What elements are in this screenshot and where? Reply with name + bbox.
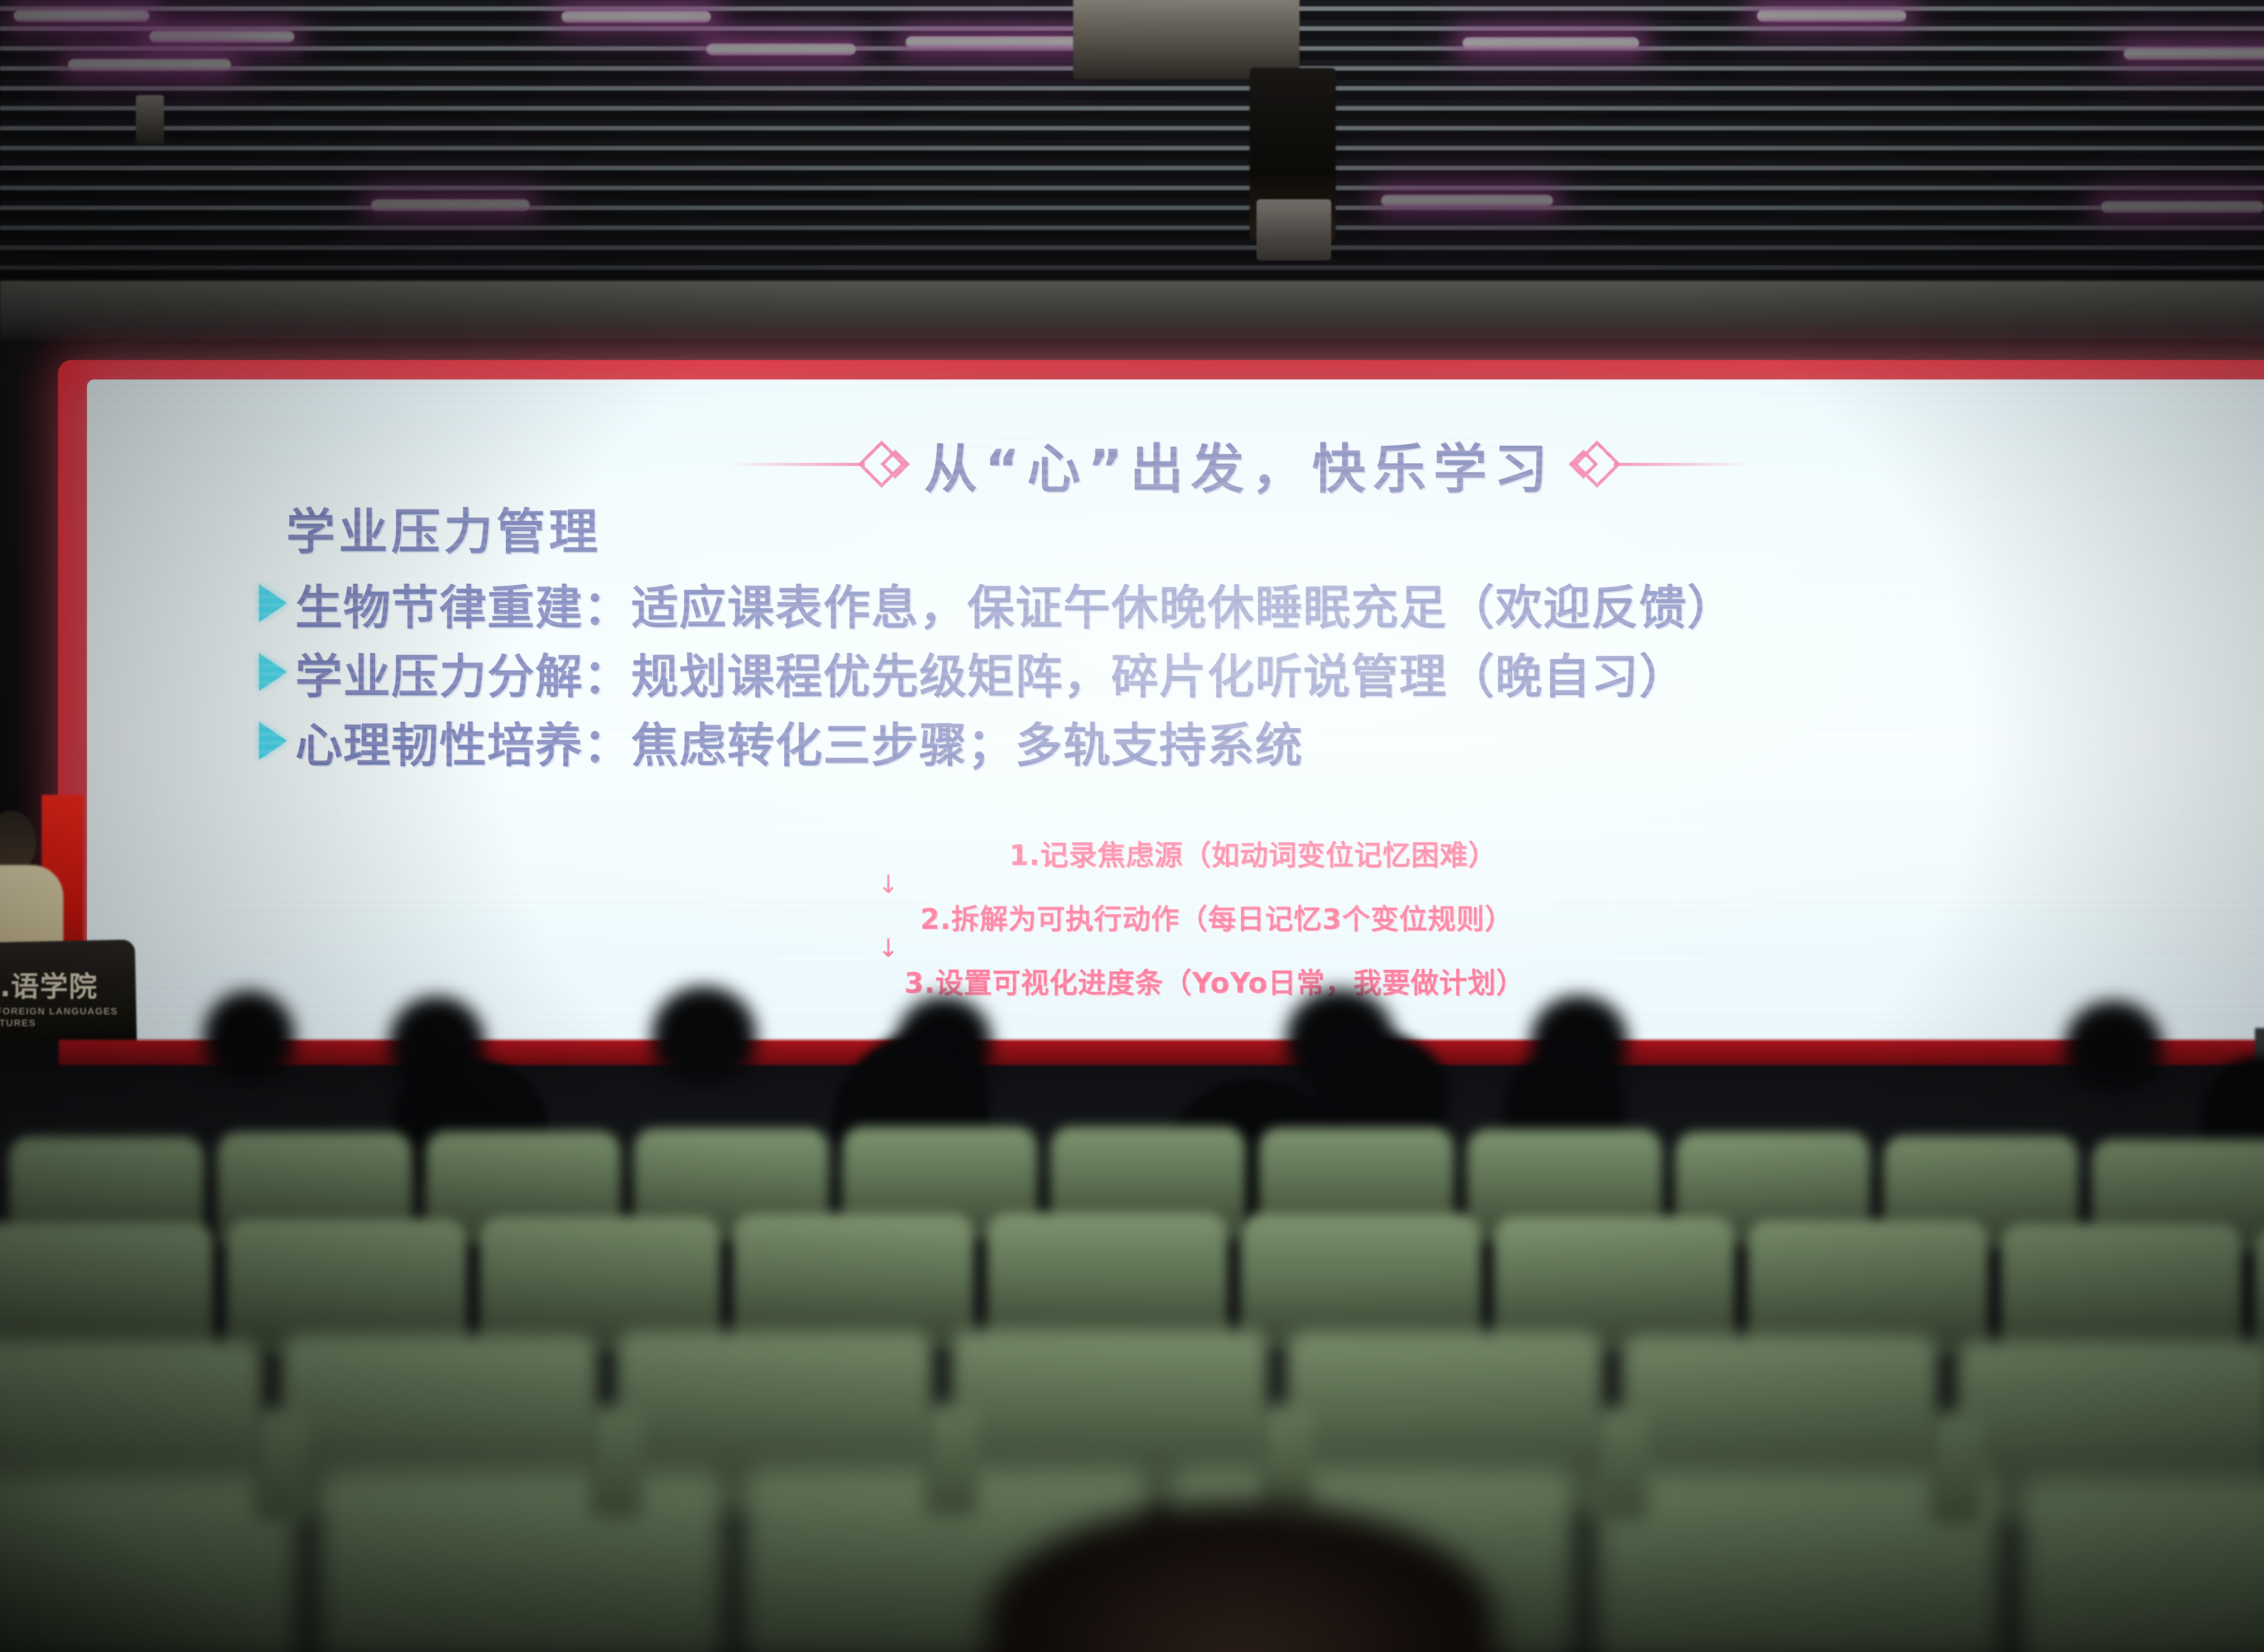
- bullet-label: 生物节律重建：适应课表作息，保证午休晚休睡眠充足（欢迎反馈）: [295, 569, 1735, 638]
- audience-head: [652, 986, 756, 1084]
- triangle-right-icon: [259, 722, 287, 760]
- ceiling-light-tube: [14, 10, 149, 22]
- audience-seat: [987, 1213, 1227, 1349]
- audience-seat: [317, 1472, 724, 1652]
- wall-upper-panel: [0, 281, 2264, 340]
- presenter-person: [0, 811, 63, 960]
- ceiling-light-tube: [1757, 10, 1906, 22]
- lecture-hall-photo: 从“心”出发，快乐学习 学业压力管理 生物节律重建：适应课表作息，保证午休晚休睡…: [0, 0, 2264, 1652]
- seat-armrest: [924, 1404, 978, 1517]
- ceiling-light-tube: [1381, 195, 1553, 206]
- ceiling-light-tube: [371, 199, 530, 211]
- ceiling-air-vent: [1073, 0, 1300, 79]
- projector-lens-icon: [1257, 199, 1331, 260]
- seat-armrest: [1594, 1407, 1648, 1521]
- ornament-line-left: [729, 463, 865, 466]
- slide-subtitle: 学业压力管理: [286, 493, 601, 563]
- ceiling-light-tube: [2124, 48, 2264, 60]
- step-item: 2.拆解为可执行动作（每日记忆3个变位规则）: [449, 896, 1984, 937]
- audience-seat: [1241, 1214, 1481, 1349]
- seat-armrest: [1259, 1405, 1313, 1518]
- bullet-label: 心理韧性培养：焦虑转化三步骤；多轨支持系统: [295, 707, 1303, 775]
- ceiling-light-tube: [149, 31, 294, 43]
- ceiling-light-tube: [1463, 37, 1639, 49]
- ceiling-light-tube: [68, 59, 231, 71]
- audience-seat: [0, 1223, 213, 1359]
- diamond-icon: [1573, 441, 1621, 488]
- step-item: 1.记录焦虑源（如动词变位记忆困难）: [522, 832, 1984, 873]
- audience-seat: [734, 1214, 974, 1349]
- presenter-head: [0, 811, 36, 872]
- ornament-line-right: [1614, 463, 1750, 466]
- arrow-down-icon: ↓: [522, 875, 1255, 895]
- ornament-left: [729, 447, 906, 481]
- seat-armrest: [1929, 1412, 1983, 1525]
- audience-head: [2065, 1001, 2162, 1091]
- triangle-right-icon: [259, 584, 287, 622]
- ceiling-light-tube: [561, 11, 711, 23]
- audience-head: [204, 991, 294, 1081]
- audience-seat: [2019, 1478, 2264, 1652]
- ceiling-light-tube: [906, 36, 1078, 48]
- page-title: 从“心”出发，快乐学习: [924, 426, 1554, 503]
- ceiling-light-tube: [706, 43, 856, 55]
- list-item: 心理韧性培养：焦虑转化三步骤；多轨支持系统: [259, 706, 2264, 775]
- bullet-list: 生物节律重建：适应课表作息，保证午休晚休睡眠充足（欢迎反馈） 学业压力分解：规划…: [259, 569, 2264, 775]
- audience-seat: [2001, 1224, 2241, 1359]
- list-item: 学业压力分解：规划课程优先级矩阵，碎片化听说管理（晚自习）: [259, 638, 2264, 706]
- ceiling-light-tube: [2101, 201, 2264, 213]
- seat-armrest: [254, 1408, 308, 1522]
- audience-seat: [226, 1219, 466, 1355]
- seat-armrest: [589, 1406, 643, 1519]
- triangle-right-icon: [259, 653, 287, 691]
- bullet-label: 学业压力分解：规划课程优先级矩阵，碎片化听说管理（晚自习）: [295, 638, 1687, 706]
- ornament-right: [1573, 447, 1750, 481]
- ceiling-spotlight: [136, 95, 164, 145]
- list-item: 生物节律重建：适应课表作息，保证午休晚休睡眠充足（欢迎反馈）: [259, 569, 2264, 638]
